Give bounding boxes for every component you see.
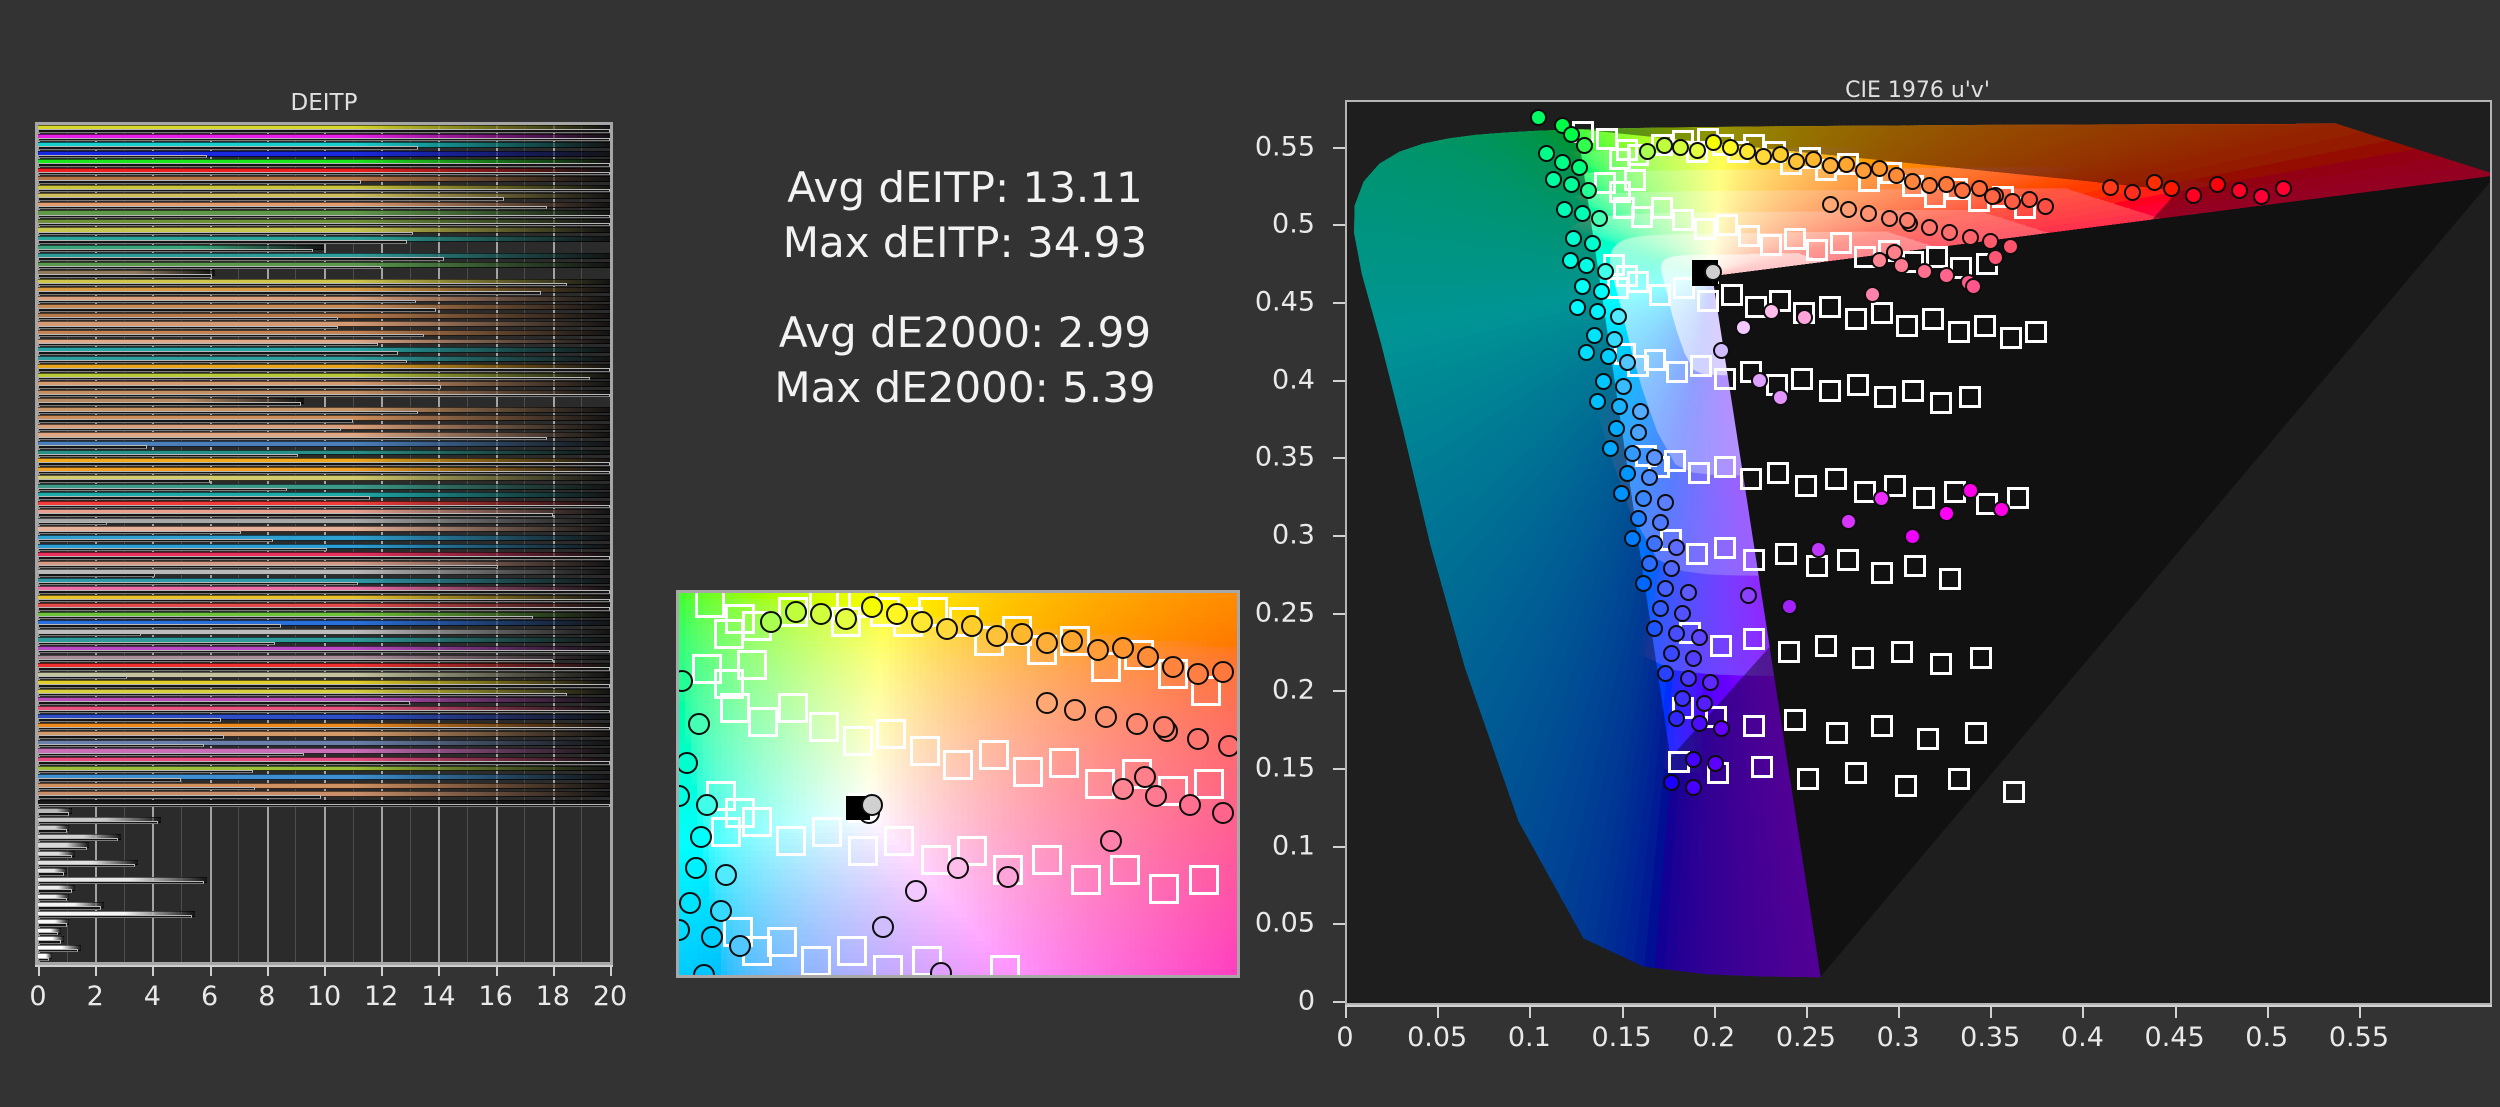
target-marker xyxy=(2007,487,2029,509)
de2000-bar xyxy=(38,129,610,132)
table-row xyxy=(38,620,610,629)
target-marker xyxy=(2025,321,2047,343)
de2000-bar xyxy=(38,573,155,576)
target-marker xyxy=(1721,284,1743,306)
target-marker xyxy=(1013,757,1043,787)
target-marker xyxy=(1596,128,1618,150)
measured-marker xyxy=(1763,303,1780,320)
target-marker xyxy=(1913,487,1935,509)
axis-tick-label: 0.1 xyxy=(1508,1022,1551,1053)
table-row xyxy=(38,475,610,484)
measured-marker xyxy=(2021,191,2038,208)
measured-marker xyxy=(2163,180,2180,197)
target-marker xyxy=(1644,349,1666,371)
measured-marker xyxy=(1580,182,1597,199)
deitp-bar xyxy=(38,518,610,524)
target-marker xyxy=(1922,308,1944,330)
table-row xyxy=(38,407,610,416)
axis-tick xyxy=(553,965,555,976)
axis-tick-label: 0.25 xyxy=(1130,597,1315,628)
measured-marker xyxy=(986,625,1008,647)
target-marker xyxy=(1767,462,1789,484)
target-marker xyxy=(767,927,797,957)
table-row xyxy=(38,518,610,527)
axis-tick xyxy=(2359,1005,2361,1018)
target-marker xyxy=(1826,722,1848,744)
target-marker xyxy=(1760,234,1782,256)
table-row xyxy=(38,817,610,826)
axis-tick xyxy=(210,965,212,976)
measured-marker xyxy=(1993,501,2010,518)
table-row xyxy=(38,262,610,271)
measured-marker xyxy=(2209,176,2226,193)
table-row xyxy=(38,304,610,313)
table-row xyxy=(38,680,610,689)
measured-marker xyxy=(685,857,707,879)
table-row xyxy=(38,774,610,783)
target-marker xyxy=(1775,543,1797,565)
axis-tick-label: 0.55 xyxy=(2329,1022,2389,1053)
table-row xyxy=(38,330,610,339)
de2000-bar xyxy=(38,667,610,670)
measured-marker xyxy=(1610,308,1627,325)
axis-tick-label: 0.25 xyxy=(1776,1022,1836,1053)
axis-tick-label: 0.2 xyxy=(1130,675,1315,706)
axis-tick xyxy=(1345,1005,1347,1018)
axis-tick-label: 0.4 xyxy=(2061,1022,2104,1053)
axis-tick-label: 0.1 xyxy=(1130,830,1315,861)
measured-marker xyxy=(1680,584,1697,601)
table-row xyxy=(38,313,610,322)
cie-plot-area xyxy=(1345,100,2492,1005)
axis-tick xyxy=(267,965,269,976)
target-marker xyxy=(843,726,873,756)
table-row xyxy=(38,697,610,706)
de2000-bar xyxy=(38,146,418,149)
de2000-bar xyxy=(38,522,107,525)
axis-tick xyxy=(1529,1005,1531,1018)
de2000-bar xyxy=(38,274,212,277)
target-marker xyxy=(2000,327,2022,349)
de2000-bar xyxy=(38,932,58,935)
table-row xyxy=(38,569,610,578)
de2000-bar xyxy=(38,377,590,380)
de2000-bar xyxy=(38,795,321,798)
target-marker xyxy=(921,845,951,875)
table-row xyxy=(38,492,610,501)
table-row xyxy=(38,731,610,740)
table-row xyxy=(38,381,610,390)
gridline xyxy=(610,125,612,962)
target-marker xyxy=(990,955,1020,978)
de2000-bar xyxy=(38,949,78,952)
target-marker xyxy=(1970,647,1992,669)
table-row xyxy=(38,202,610,211)
measured-marker xyxy=(886,603,908,625)
measured-marker xyxy=(1635,490,1652,507)
de2000-bar xyxy=(38,642,275,645)
measured-marker xyxy=(1578,257,1595,274)
measured-marker xyxy=(911,611,933,633)
axis-tick xyxy=(1333,768,1345,770)
target-marker xyxy=(1714,368,1736,390)
target-marker xyxy=(1049,748,1079,778)
de2000-bar xyxy=(38,633,141,636)
table-row xyxy=(38,210,610,219)
target-marker xyxy=(1784,709,1806,731)
measured-marker xyxy=(676,752,698,774)
measured-marker xyxy=(1840,513,1857,530)
target-marker xyxy=(1806,555,1828,577)
target-marker xyxy=(1649,284,1671,306)
table-row xyxy=(38,902,610,911)
target-marker xyxy=(1672,209,1694,231)
target-marker xyxy=(1819,296,1841,318)
target-marker xyxy=(1743,628,1765,650)
measured-marker xyxy=(1632,403,1649,420)
table-row xyxy=(38,945,610,954)
axis-tick-label: 0.2 xyxy=(1692,1022,1735,1053)
measured-marker xyxy=(1689,142,1706,159)
target-marker xyxy=(1631,206,1653,228)
axis-tick-label: 12 xyxy=(364,981,398,1012)
target-marker xyxy=(720,693,750,723)
axis-tick-label: 16 xyxy=(478,981,512,1012)
de2000-bar xyxy=(38,488,287,491)
de2000-bar xyxy=(38,718,221,721)
table-row xyxy=(38,860,610,869)
target-marker xyxy=(1607,277,1629,299)
de2000-bar xyxy=(38,402,301,405)
target-marker xyxy=(695,590,725,618)
measured-marker xyxy=(1095,706,1117,728)
measured-marker xyxy=(1578,344,1595,361)
table-row xyxy=(38,347,610,356)
table-row xyxy=(38,783,610,792)
axis-tick xyxy=(324,965,326,976)
table-row xyxy=(38,911,610,920)
table-row xyxy=(38,842,610,851)
de2000-bar xyxy=(38,804,610,807)
target-marker xyxy=(1917,728,1939,750)
axis-tick-label: 0.4 xyxy=(1130,364,1315,395)
table-row xyxy=(38,791,610,800)
table-row xyxy=(38,415,610,424)
axis-tick xyxy=(496,965,498,976)
target-marker xyxy=(2003,781,2025,803)
table-row xyxy=(38,270,610,279)
target-marker xyxy=(1740,468,1762,490)
table-row xyxy=(38,885,610,894)
measured-marker xyxy=(1036,692,1058,714)
de2000-bar xyxy=(38,385,441,388)
measured-marker xyxy=(1663,560,1680,577)
measured-marker xyxy=(1685,779,1702,796)
measured-marker xyxy=(710,900,732,922)
table-row xyxy=(38,919,610,928)
target-marker xyxy=(812,817,842,847)
measured-marker xyxy=(1751,372,1768,389)
target-marker xyxy=(1716,214,1738,236)
table-row xyxy=(38,535,610,544)
table-row xyxy=(38,176,610,185)
measured-marker xyxy=(1556,201,1573,218)
table-row xyxy=(38,356,610,365)
table-row xyxy=(38,825,610,834)
de2000-bar xyxy=(38,770,253,773)
axis-tick-label: 0.35 xyxy=(1960,1022,2020,1053)
de2000-bar xyxy=(38,249,313,252)
axis-tick xyxy=(1333,302,1345,304)
measured-marker xyxy=(1962,482,1979,499)
measured-marker xyxy=(1984,188,2001,205)
cie-x-tick-labels: 00.050.10.150.20.250.30.350.40.450.50.55 xyxy=(1345,1022,2500,1062)
deitp-plot-area xyxy=(35,122,613,965)
de2000-bar xyxy=(38,232,413,235)
de2000-bar xyxy=(38,180,361,183)
target-marker xyxy=(1710,635,1732,657)
target-marker xyxy=(876,719,906,749)
target-marker xyxy=(1874,386,1896,408)
measured-marker xyxy=(1822,157,1839,174)
axis-tick-label: 0.15 xyxy=(1130,752,1315,783)
de2000-bar xyxy=(38,471,610,474)
target-marker xyxy=(1847,374,1869,396)
de2000-bar xyxy=(38,727,610,730)
measured-marker xyxy=(1855,162,1872,179)
measured-marker xyxy=(1591,210,1608,227)
de2000-bar xyxy=(38,599,610,602)
de2000-bar xyxy=(38,659,553,662)
measured-marker xyxy=(1602,440,1619,457)
cie-y-tick-labels: 00.050.10.150.20.250.30.350.40.450.50.55 xyxy=(1130,100,1315,1005)
de2000-bar xyxy=(38,624,281,627)
axis-tick xyxy=(1333,380,1345,382)
de2000-bar xyxy=(38,864,135,867)
table-row xyxy=(38,253,610,262)
de2000-bar xyxy=(38,872,64,875)
axis-tick-label: 0.45 xyxy=(2145,1022,2205,1053)
measured-marker xyxy=(872,916,894,938)
table-row xyxy=(38,125,610,134)
table-row xyxy=(38,168,610,177)
target-marker xyxy=(1651,197,1673,219)
de2000-bar xyxy=(38,462,610,465)
de2000-bar xyxy=(38,419,353,422)
de2000-bar xyxy=(38,539,273,542)
axis-tick-label: 4 xyxy=(144,981,161,1012)
target-marker xyxy=(837,936,867,966)
table-row xyxy=(38,219,610,228)
target-marker xyxy=(1845,762,1867,784)
deitp-x-axis xyxy=(35,965,613,979)
axis-tick-label: 0.05 xyxy=(1407,1022,1467,1053)
measured-marker xyxy=(1881,210,1898,227)
measured-marker xyxy=(1663,774,1680,791)
measured-marker xyxy=(1680,670,1697,687)
target-marker xyxy=(1032,845,1062,875)
axis-tick xyxy=(1333,1001,1345,1003)
cie-x-axis xyxy=(1345,1005,2492,1021)
de2000-bar xyxy=(38,300,416,303)
axis-tick xyxy=(1333,690,1345,692)
measured-marker xyxy=(1840,201,1857,218)
target-marker xyxy=(873,955,903,978)
axis-tick-label: 0.35 xyxy=(1130,442,1315,473)
axis-tick xyxy=(95,965,97,976)
de2000-bar xyxy=(38,855,72,858)
table-row xyxy=(38,586,610,595)
target-marker xyxy=(1871,302,1893,324)
target-marker xyxy=(1830,232,1852,254)
de2000-bar xyxy=(38,411,418,414)
target-marker xyxy=(1871,715,1893,737)
table-row xyxy=(38,193,610,202)
measured-marker xyxy=(1545,171,1562,188)
target-marker xyxy=(1797,768,1819,790)
measured-marker xyxy=(1899,212,1916,229)
measured-marker xyxy=(2004,193,2021,210)
measured-marker xyxy=(1608,420,1625,437)
measured-marker xyxy=(1586,327,1603,344)
de2000-bar xyxy=(38,906,101,909)
table-row xyxy=(38,236,610,245)
target-marker xyxy=(1714,456,1736,478)
table-row xyxy=(38,432,610,441)
de2000-bar xyxy=(38,684,610,687)
target-marker xyxy=(1791,368,1813,390)
measured-marker xyxy=(1938,176,1955,193)
axis-tick-label: 0.5 xyxy=(2245,1022,2288,1053)
de2000-bar xyxy=(38,761,610,764)
target-marker xyxy=(1778,641,1800,663)
table-row xyxy=(38,928,610,937)
target-marker xyxy=(1930,392,1952,414)
measured-marker xyxy=(1864,286,1881,303)
table-row xyxy=(38,526,610,535)
de2000-bar xyxy=(38,505,610,508)
target-marker xyxy=(1751,756,1773,778)
measured-marker xyxy=(1674,690,1691,707)
de2000-bar xyxy=(38,582,358,585)
de2000-bar xyxy=(38,710,610,713)
target-marker xyxy=(1743,715,1765,737)
de2000-bar xyxy=(38,701,410,704)
target-marker xyxy=(1930,653,1952,675)
table-row xyxy=(38,808,610,817)
target-marker xyxy=(1738,225,1760,247)
axis-tick-label: 20 xyxy=(593,981,627,1012)
de2000-bar xyxy=(38,368,610,371)
de2000-bar xyxy=(38,829,67,832)
table-row xyxy=(38,159,610,168)
de2000-bar xyxy=(38,283,567,286)
de2000-bar xyxy=(38,206,547,209)
axis-tick xyxy=(1333,613,1345,615)
target-marker xyxy=(1852,647,1874,669)
target-marker xyxy=(1624,169,1646,191)
target-marker xyxy=(1664,450,1686,472)
cie-y-axis xyxy=(1320,100,1345,1005)
measured-marker xyxy=(1674,605,1691,622)
table-row xyxy=(38,561,610,570)
axis-tick xyxy=(2082,1005,2084,1018)
target-marker xyxy=(1939,568,1961,590)
de2000-bar xyxy=(38,428,341,431)
table-row xyxy=(38,142,610,151)
table-row xyxy=(38,441,610,450)
target-marker xyxy=(1743,549,1765,571)
measured-marker xyxy=(1916,263,1933,280)
deitp-chart-title: DEITP xyxy=(35,90,613,116)
de2000-bar xyxy=(38,812,69,815)
de2000-bar xyxy=(38,787,255,790)
target-marker xyxy=(801,946,831,976)
axis-tick-label: 0.5 xyxy=(1130,209,1315,240)
de2000-bar xyxy=(38,744,204,747)
axis-tick xyxy=(438,965,440,976)
de2000-bar xyxy=(38,735,224,738)
measured-marker xyxy=(1597,263,1614,280)
axis-tick-label: 0.45 xyxy=(1130,286,1315,317)
axis-tick xyxy=(1333,535,1345,537)
de2000-bar xyxy=(38,881,204,884)
de2000-bar xyxy=(38,163,610,166)
table-row xyxy=(38,595,610,604)
target-marker xyxy=(1714,537,1736,559)
de2000-bar xyxy=(38,240,407,243)
table-row xyxy=(38,390,610,399)
measured-marker xyxy=(1938,505,1955,522)
measured-marker xyxy=(715,864,737,886)
axis-tick xyxy=(2267,1005,2269,1018)
measured-marker xyxy=(1624,445,1641,462)
de2000-bar xyxy=(38,958,49,961)
target-marker xyxy=(1694,218,1716,240)
de2000-bar xyxy=(38,197,504,200)
axis-tick-label: 0.55 xyxy=(1130,131,1315,162)
measured-marker xyxy=(1772,389,1789,406)
target-marker xyxy=(1871,562,1893,584)
deitp-x-tick-labels: 02468101214161820 xyxy=(0,981,650,1021)
table-row xyxy=(38,603,610,612)
table-row xyxy=(38,467,610,476)
axis-tick-label: 14 xyxy=(421,981,455,1012)
target-marker xyxy=(1825,468,1847,490)
axis-tick-label: 0 xyxy=(1336,1022,1353,1053)
measured-marker xyxy=(1796,309,1813,326)
measured-marker xyxy=(2002,238,2019,255)
measured-marker xyxy=(1087,639,1109,661)
axis-tick-label: 0.15 xyxy=(1591,1022,1651,1053)
axis-tick xyxy=(1990,1005,1992,1018)
table-row xyxy=(38,894,610,903)
table-row xyxy=(38,339,610,348)
de2000-bar xyxy=(38,607,610,610)
axis-tick xyxy=(2175,1005,2177,1018)
target-marker xyxy=(1697,290,1719,312)
target-marker xyxy=(1902,380,1924,402)
measured-marker xyxy=(1788,153,1805,170)
target-marker xyxy=(1904,555,1926,577)
de2000-bar xyxy=(38,172,610,175)
measured-marker xyxy=(1061,630,1083,652)
table-row xyxy=(38,637,610,646)
measured-marker xyxy=(1663,645,1680,662)
de2000-bar xyxy=(38,343,378,346)
measured-marker xyxy=(1691,715,1708,732)
de2000-bar xyxy=(38,778,181,781)
